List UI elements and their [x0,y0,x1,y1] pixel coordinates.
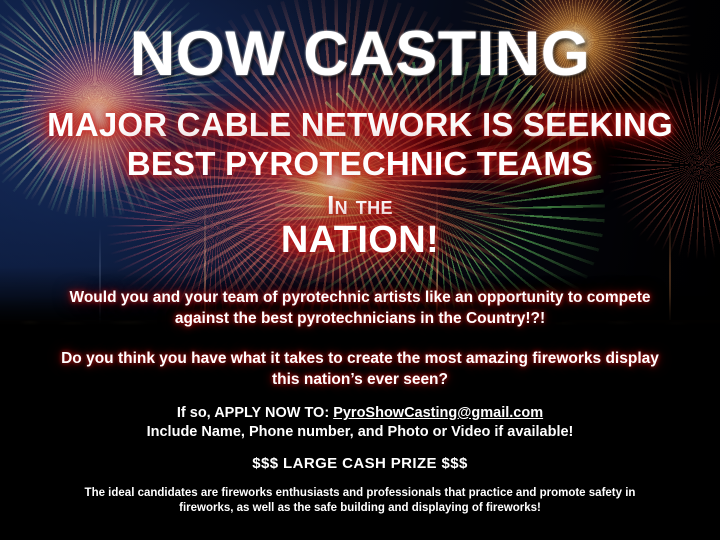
apply-block: If so, APPLY NOW TO: PyroShowCasting@gma… [0,404,720,442]
promo-paragraph-2: Do you think you have what it takes to c… [0,348,720,390]
poster-text-layer: NOW CASTING MAJOR CABLE NETWORK IS SEEKI… [0,0,720,540]
promo-paragraph-1: Would you and your team of pyrotechnic a… [0,287,720,329]
page-title: NOW CASTING [0,18,720,90]
apply-prefix-text: If so, APPLY NOW TO: [177,405,333,421]
headline-line-3: In the [0,190,720,221]
apply-email-link[interactable]: PyroShowCasting@gmail.com [333,405,543,421]
promo-paragraph-2-line-1: Do you think you have what it takes to c… [0,348,720,369]
headline-line-2: BEST PYROTECHNIC TEAMS [0,145,720,183]
headline-line-1: MAJOR CABLE NETWORK IS SEEKING [0,106,720,144]
promo-paragraph-1-line-1: Would you and your team of pyrotechnic a… [0,287,720,308]
promo-paragraph-1-line-2: against the best pyrotechnicians in the … [0,308,720,329]
footer-line-1: The ideal candidates are fireworks enthu… [0,486,720,501]
promo-paragraph-2-line-2: this nation’s ever seen? [0,369,720,390]
footer-disclaimer: The ideal candidates are fireworks enthu… [0,486,720,516]
cash-prize-banner: $$$ LARGE CASH PRIZE $$$ [0,455,720,472]
apply-note: Include Name, Phone number, and Photo or… [0,423,720,442]
apply-instruction-line: If so, APPLY NOW TO: PyroShowCasting@gma… [0,404,720,423]
headline-line-4: NATION! [0,219,720,262]
footer-line-2: fireworks, as well as the safe building … [0,501,720,516]
casting-call-poster: NOW CASTING MAJOR CABLE NETWORK IS SEEKI… [0,0,720,540]
